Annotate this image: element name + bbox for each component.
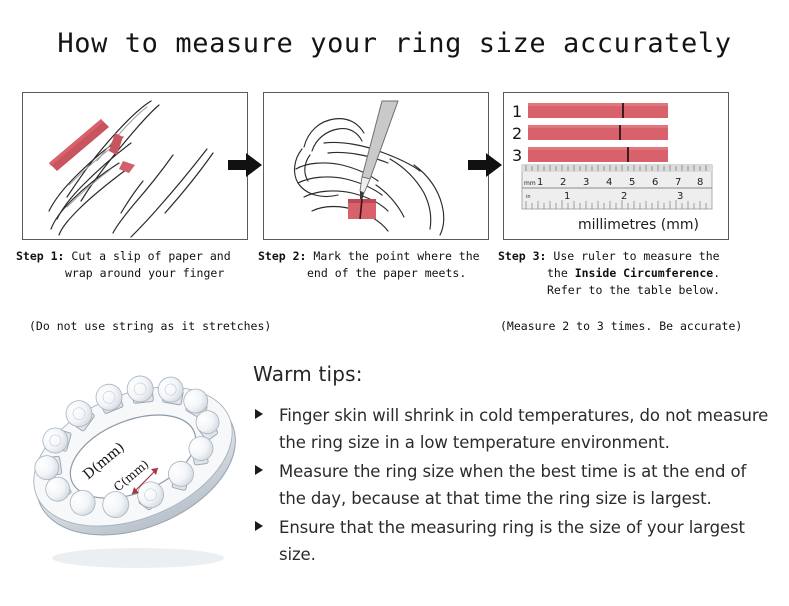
- warm-tip-text: Finger skin will shrink in cold temperat…: [279, 406, 768, 452]
- ruler-metric-tick-7: 7: [675, 177, 681, 188]
- warm-tips-section: Warm tips: Finger skin will shrink in co…: [253, 362, 773, 570]
- arrow-step2-to-step3-icon: [466, 150, 504, 180]
- eternity-ring-icon: D(mm) C(mm): [18, 352, 254, 580]
- warm-tip-item: Ensure that the measuring ring is the si…: [253, 514, 773, 568]
- ruler-metric-tick-6: 6: [652, 177, 658, 188]
- strip-1-number: 1: [512, 102, 522, 121]
- ruler-imperial-tick-1: 1: [564, 191, 570, 202]
- ruler-unit-caption: millimetres (mm): [578, 217, 699, 233]
- warm-tips-heading: Warm tips:: [253, 362, 773, 386]
- step-3-label: Step 3:: [498, 249, 546, 263]
- step-3-line2-suffix: .: [713, 266, 720, 280]
- ruler-imperial-tick-3: 3: [677, 191, 683, 202]
- ruler-metric-tick-5: 5: [629, 177, 635, 188]
- warm-tip-item: Finger skin will shrink in cold temperat…: [253, 402, 773, 456]
- pen-shape: [360, 101, 398, 201]
- step-2-illustration-panel: [263, 92, 489, 240]
- step-1-label: Step 1:: [16, 249, 64, 263]
- warm-tip-text: Measure the ring size when the best time…: [279, 462, 746, 508]
- warm-tip-item: Measure the ring size when the best time…: [253, 458, 773, 512]
- ruler-metric-tick-1: 1: [537, 177, 543, 188]
- step-1-illustration-panel: [22, 92, 248, 240]
- ruler-metric-tick-4: 4: [606, 177, 612, 188]
- warm-tip-text: Ensure that the measuring ring is the si…: [279, 518, 745, 564]
- step-1-line2: wrap around your finger: [16, 265, 266, 282]
- step-3-line3: Refer to the table below.: [498, 282, 748, 299]
- steps-row: 1 2 3: [0, 92, 789, 244]
- step-captions: Step 1: Cut a slip of paper and wrap aro…: [0, 248, 789, 343]
- step-2-line1: Mark the point where the: [313, 249, 479, 263]
- step-3-line1: Use ruler to measure the: [553, 249, 719, 263]
- step-1-line1: Cut a slip of paper and: [71, 249, 230, 263]
- arrow-step1-to-step2-icon: [226, 150, 264, 180]
- triangle-bullet-icon: [255, 409, 263, 419]
- ruler-metric-unit: mm: [524, 180, 536, 187]
- step-1-caption: Step 1: Cut a slip of paper and wrap aro…: [16, 248, 266, 282]
- strips-over-ruler-icon: 1 2 3: [504, 93, 728, 239]
- step-3-note: (Measure 2 to 3 times. Be accurate): [500, 318, 742, 335]
- triangle-bullet-icon: [255, 521, 263, 531]
- step-2-label: Step 2:: [258, 249, 306, 263]
- strip-3-number: 3: [512, 146, 522, 165]
- hand-with-paper-strip-icon: [23, 93, 247, 239]
- step-3-line2-prefix: the: [547, 266, 575, 280]
- step-3-caption: Step 3: Use ruler to measure the the Ins…: [498, 248, 748, 299]
- ruler-metric-tick-2: 2: [560, 177, 566, 188]
- step-2-caption: Step 2: Mark the point where the end of …: [258, 248, 508, 282]
- marked-paper-strip-shape: [348, 199, 376, 219]
- ring-diagram: D(mm) C(mm): [18, 352, 254, 580]
- ruler-metric-tick-8: 8: [697, 177, 703, 188]
- ruler-imperial-unit: in: [526, 194, 531, 200]
- step-1-note: (Do not use string as it stretches): [29, 318, 271, 335]
- triangle-bullet-icon: [255, 465, 263, 475]
- ruler-shape: mm 1 2 3 4 5 6 7 8 in 1 2 3: [522, 165, 712, 209]
- page-title: How to measure your ring size accurately: [0, 28, 789, 59]
- step-3-inside-circumference: Inside Circumference: [575, 266, 713, 280]
- step-3-illustration-panel: 1 2 3: [503, 92, 729, 240]
- ruler-metric-tick-3: 3: [583, 177, 589, 188]
- strip-2-number: 2: [512, 124, 522, 143]
- step-2-line2: end of the paper meets.: [258, 265, 508, 282]
- hand-marking-paper-icon: [264, 93, 488, 239]
